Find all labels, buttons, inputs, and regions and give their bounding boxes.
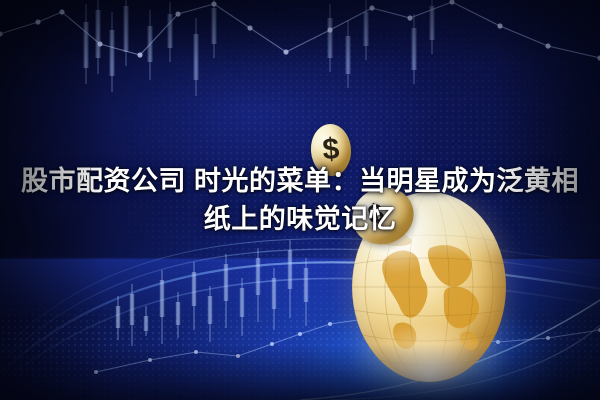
headline-text: 股市配资公司 时光的菜单：当明星成为泛黄相纸上的味觉记忆 [18,162,582,238]
banner-image: $ $ 股市配资公司 时光的菜单：当明星成为泛黄相纸上的味觉记忆 [0,0,600,400]
headline: 股市配资公司 时光的菜单：当明星成为泛黄相纸上的味觉记忆 [0,162,600,238]
globe-bottom-highlight [361,325,497,382]
